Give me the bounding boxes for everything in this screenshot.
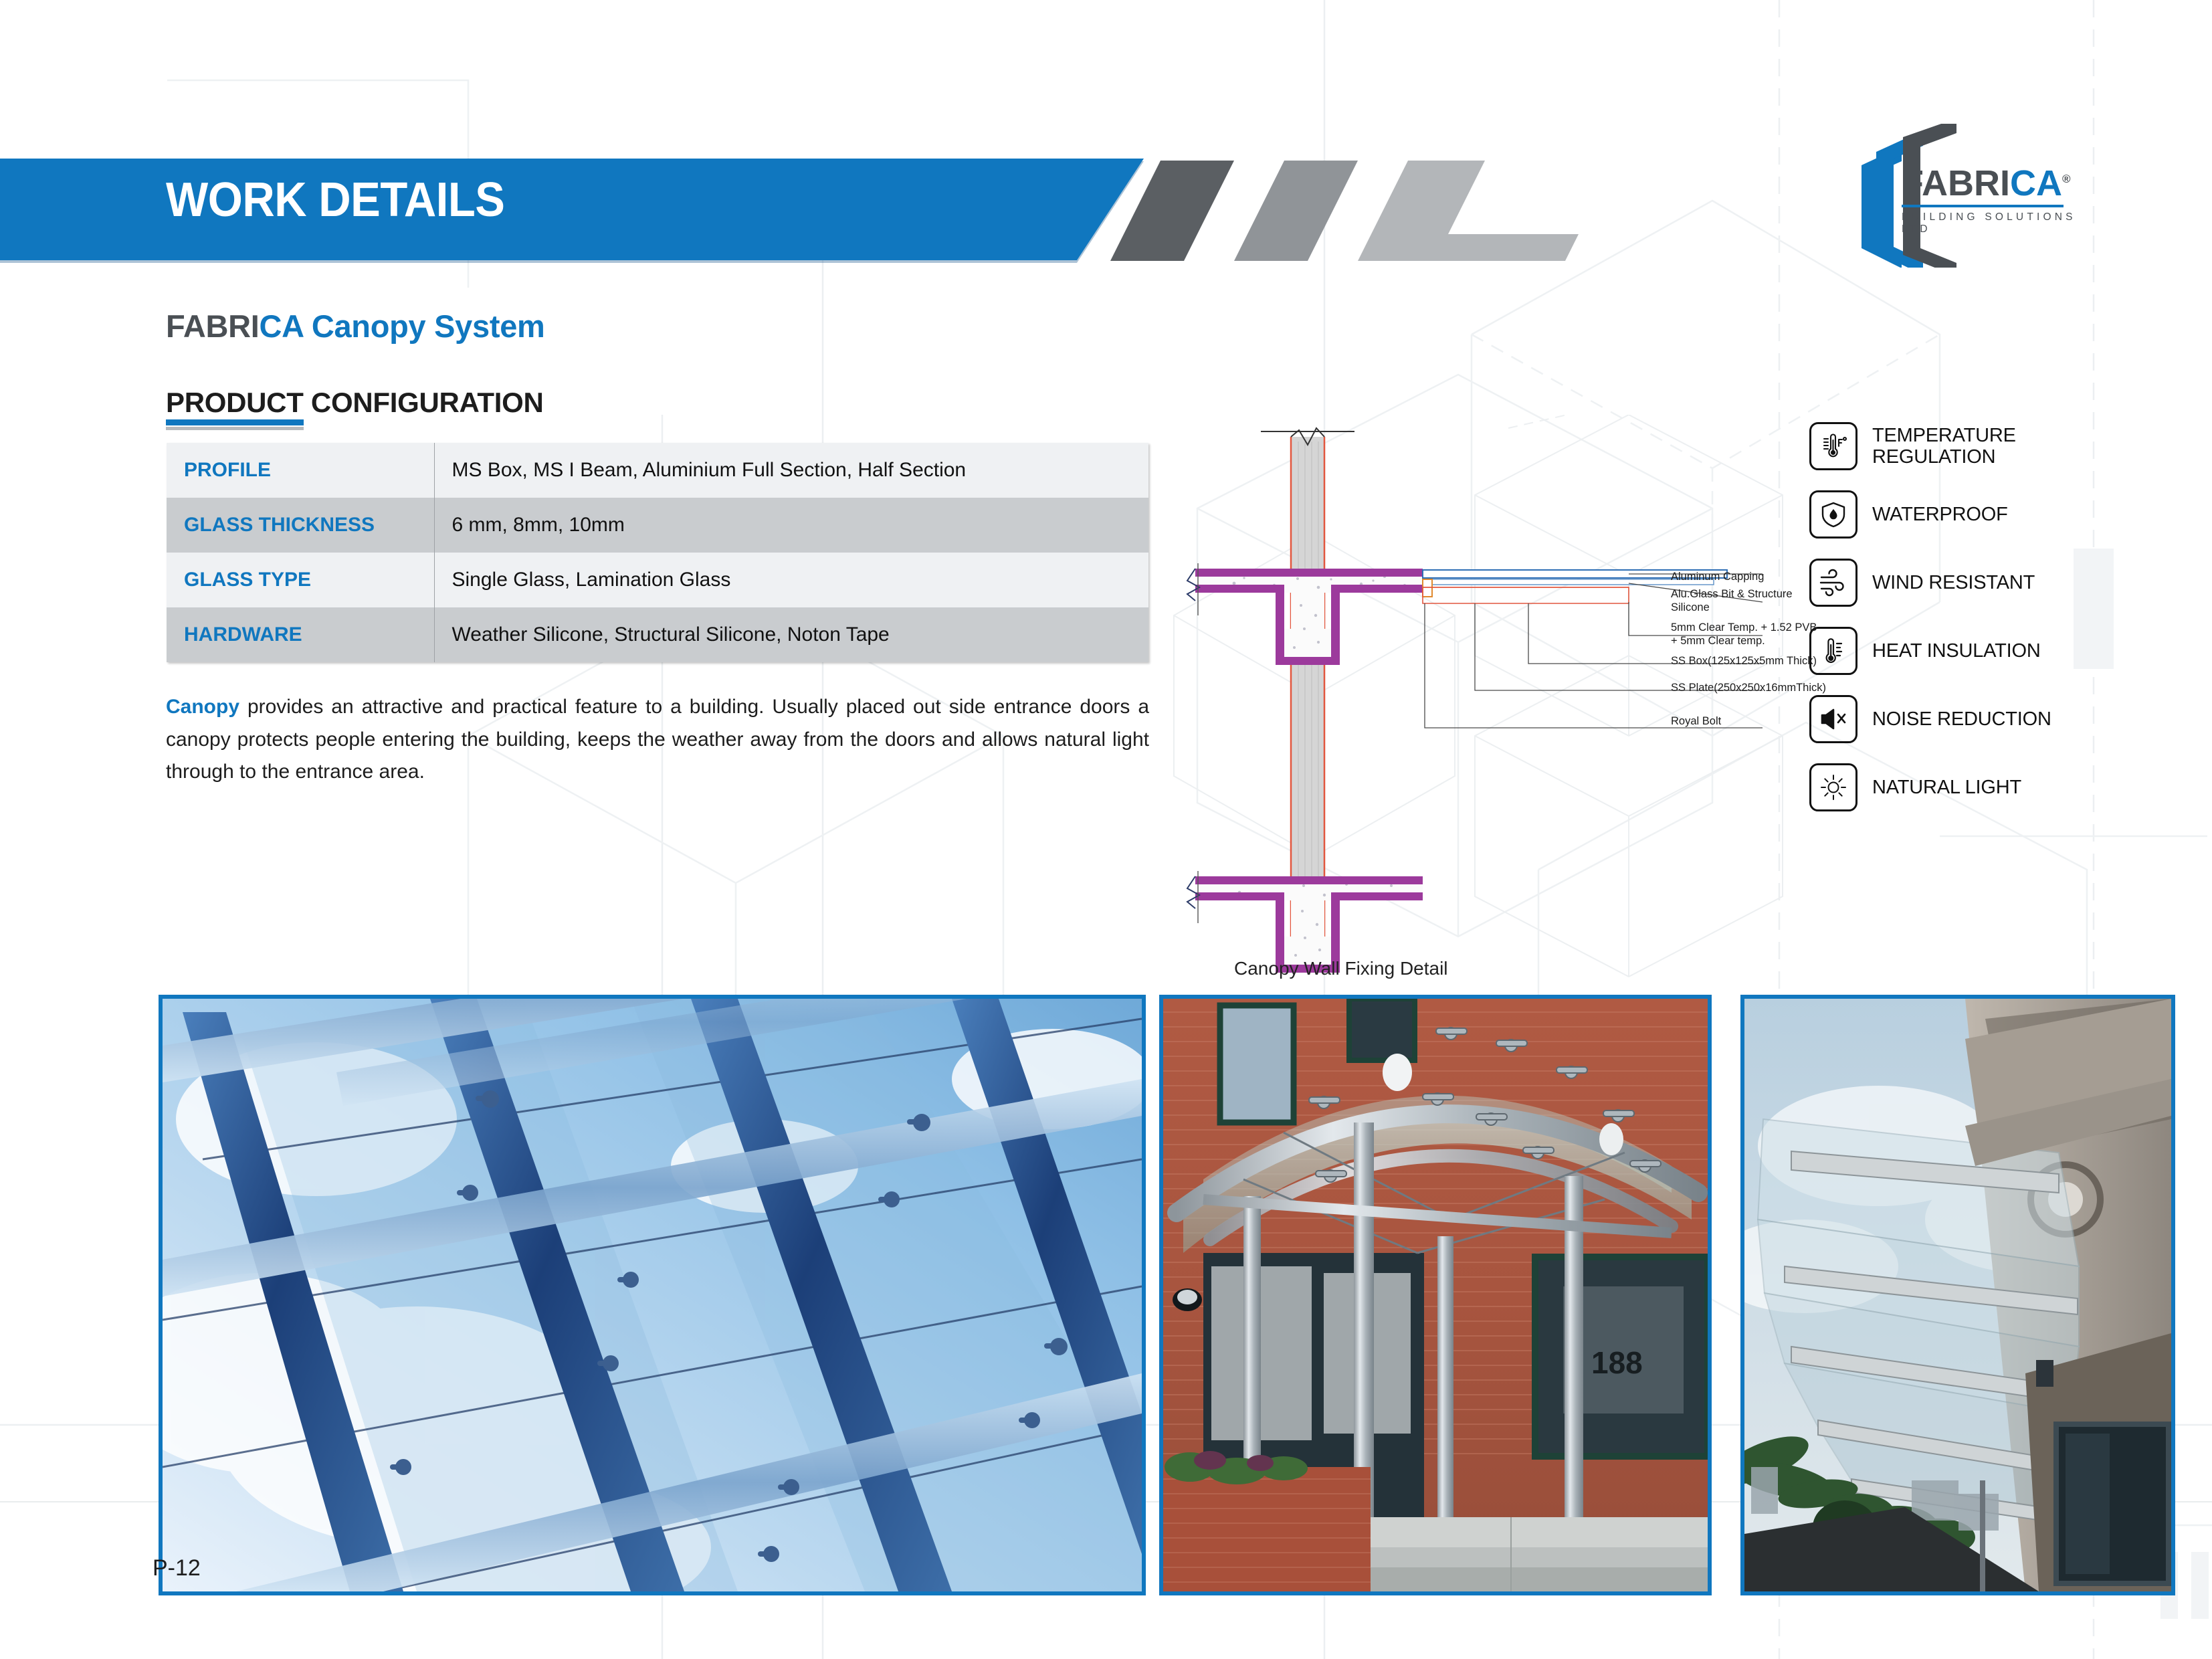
svg-text:188: 188 xyxy=(1591,1345,1643,1380)
table-value-hardware: Weather Silicone, Structural Silicone, N… xyxy=(434,607,1148,662)
product-title-dark: FABRI xyxy=(166,308,260,344)
sun-icon xyxy=(1809,763,1857,811)
feature-label-line1: TEMPERATURE xyxy=(1872,425,2016,446)
description-body: provides an attractive and practical fea… xyxy=(166,696,1149,783)
feature-label: TEMPERATURE REGULATION xyxy=(1872,425,2016,468)
feature-label: HEAT INSULATION xyxy=(1872,640,2041,662)
table-value-profile: MS Box, MS I Beam, Aluminium Full Sectio… xyxy=(434,443,1148,498)
glass-roof-from-below-photo xyxy=(159,995,1146,1595)
header-stripes-decoration xyxy=(1110,161,1659,261)
feature-item-noise-reduction: NOISE REDUCTION xyxy=(1809,688,2051,751)
product-configuration-table: PROFILE MS Box, MS I Beam, Aluminium Ful… xyxy=(167,443,1148,662)
section-heading: PRODUCT CONFIGURATION xyxy=(166,387,544,419)
table-key-glass-thickness: GLASS THICKNESS xyxy=(167,498,434,553)
fabrica-logo: FABRICA® BUILDING SOLUTIONS LTD xyxy=(1823,124,2090,268)
feature-item-natural-light: NATURAL LIGHT xyxy=(1809,756,2051,819)
table-key-glass-type: GLASS TYPE xyxy=(167,553,434,607)
arched-steel-glass-entrance-canopy-photo: 188 xyxy=(1159,995,1712,1595)
table-row: GLASS THICKNESS 6 mm, 8mm, 10mm xyxy=(167,498,1148,553)
product-title-blue: CA Canopy System xyxy=(260,308,545,344)
annotation-clear-temp-pvb: 5mm Clear Temp. + 1.52 PVB + 5mm Clear t… xyxy=(1671,621,1817,648)
section-heading-underlined: PRODUCT xyxy=(166,387,304,418)
page-title: WORK DETAILS xyxy=(166,173,505,227)
annotation-aluminum-capping: Aluminum Capping xyxy=(1671,570,1764,583)
logo-wordmark: FABRICA® BUILDING SOLUTIONS LTD xyxy=(1902,165,2090,235)
table-value-glass-thickness: 6 mm, 8mm, 10mm xyxy=(434,498,1148,553)
annotation-royal-bolt: Royal Bolt xyxy=(1671,714,1721,728)
description-paragraph: Canopy provides an attractive and practi… xyxy=(166,691,1149,789)
table-row: GLASS TYPE Single Glass, Lamination Glas… xyxy=(167,553,1148,607)
feature-item-heat-insulation: HEAT INSULATION xyxy=(1809,619,2051,682)
wind-icon xyxy=(1809,559,1857,607)
logo-word-dark: FABRI xyxy=(1902,163,2010,203)
annotation-ss-plate: SS Plate(250x250x16mmThick) xyxy=(1671,681,1826,694)
annotation-alu-glass-bit-silicone: Alu.Glass Bit & Structure Silicone xyxy=(1671,587,1793,614)
feature-item-waterproof: WATERPROOF xyxy=(1809,483,2051,546)
trademark-icon: ® xyxy=(2062,173,2071,185)
table-row: PROFILE MS Box, MS I Beam, Aluminium Ful… xyxy=(167,443,1148,498)
speaker-mute-icon xyxy=(1809,695,1857,743)
feature-label-line2: REGULATION xyxy=(1872,446,2016,468)
description-lead: Canopy xyxy=(166,696,239,718)
logo-subtitle: BUILDING SOLUTIONS LTD xyxy=(1902,211,2090,235)
canopy-wall-fixing-detail-drawing xyxy=(1161,415,1789,990)
feature-item-wind-resistant: WIND RESISTANT xyxy=(1809,551,2051,614)
table-key-hardware: HARDWARE xyxy=(167,607,434,662)
drawing-caption: Canopy Wall Fixing Detail xyxy=(1234,958,1448,979)
feature-label: NOISE REDUCTION xyxy=(1872,708,2051,730)
shield-water-drop-icon xyxy=(1809,490,1857,539)
table-key-profile: PROFILE xyxy=(167,443,434,498)
modern-glass-awning-photo xyxy=(1740,995,2175,1595)
feature-label: WIND RESISTANT xyxy=(1872,572,2035,593)
annotation-ss-box: SS Box(125x125x5mm Thick) xyxy=(1671,654,1817,668)
table-row: HARDWARE Weather Silicone, Structural Si… xyxy=(167,607,1148,662)
feature-list: TEMPERATURE REGULATION WATERPROOF WIND R… xyxy=(1809,415,2051,824)
feature-label: WATERPROOF xyxy=(1872,504,2008,525)
feature-item-temperature-regulation: TEMPERATURE REGULATION xyxy=(1809,415,2051,478)
table-value-glass-type: Single Glass, Lamination Glass xyxy=(434,553,1148,607)
product-title: FABRICA Canopy System xyxy=(166,308,545,345)
section-heading-rest: CONFIGURATION xyxy=(304,387,544,418)
feature-label: NATURAL LIGHT xyxy=(1872,777,2021,798)
page-number: P-12 xyxy=(153,1555,201,1581)
logo-word-blue: CA xyxy=(2010,163,2062,203)
thermometer-fahrenheit-icon xyxy=(1809,422,1857,470)
logo-divider xyxy=(1902,205,2064,207)
